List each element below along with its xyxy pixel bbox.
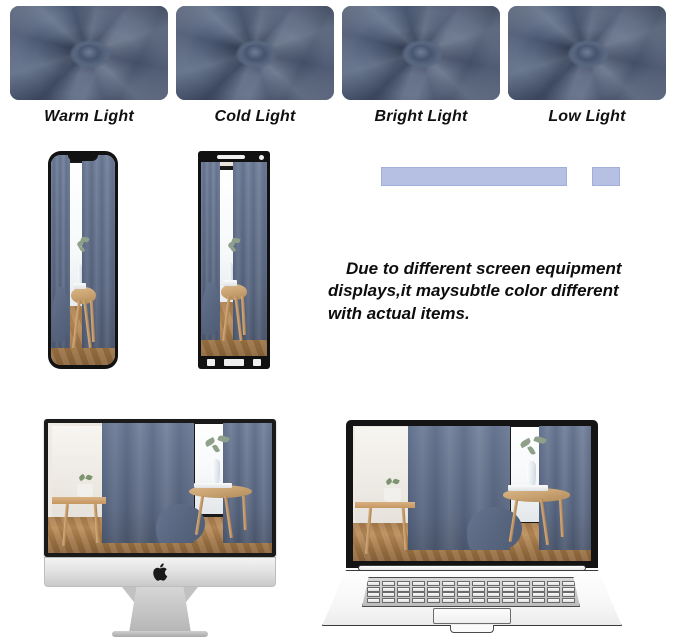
keyboard-key[interactable] [547, 592, 561, 597]
fabric-vignette [508, 6, 666, 100]
keyboard-key[interactable] [427, 581, 441, 586]
keyboard-key[interactable] [442, 581, 456, 586]
swatch-label: Warm Light [10, 108, 168, 126]
phone-speaker-icon [217, 155, 245, 159]
keyboard-key[interactable] [457, 592, 471, 597]
nav-recents-icon[interactable] [253, 359, 261, 366]
scene-plant-pot [77, 484, 93, 497]
fabric-vignette [10, 6, 168, 100]
keyboard-key[interactable] [472, 592, 486, 597]
fabric-swatch-row: Warm Light Cold Light Bright Light [0, 0, 679, 135]
fabric-vignette [342, 6, 500, 100]
keyboard-key[interactable] [397, 592, 411, 597]
fabric-swatch-icon [176, 6, 334, 100]
keyboard-key[interactable] [367, 581, 381, 586]
swatch-label: Cold Light [176, 108, 334, 126]
swatch-cell-warm-light: Warm Light [10, 6, 168, 126]
desktop-imac-mockup [44, 419, 276, 639]
keyboard-key[interactable] [532, 587, 546, 592]
keyboard-key[interactable] [457, 581, 471, 586]
keyboard-key[interactable] [397, 587, 411, 592]
scene-book [73, 283, 86, 289]
keyboard-key[interactable] [562, 598, 576, 603]
swatch-label: Bright Light [342, 108, 500, 126]
keyboard-key[interactable] [532, 592, 546, 597]
keyboard-key[interactable] [517, 598, 531, 603]
color-chip-small [592, 167, 620, 186]
keyboard-key[interactable] [427, 592, 441, 597]
nav-back-icon[interactable] [207, 359, 215, 366]
imac-bezel [44, 419, 276, 557]
keyboard-key[interactable] [487, 587, 501, 592]
keyboard-key[interactable] [412, 581, 426, 586]
laptop-front-lip [450, 625, 494, 633]
scene-book [508, 485, 548, 490]
swatch-cell-bright-light: Bright Light [342, 6, 500, 126]
keyboard-row[interactable] [366, 581, 576, 586]
keyboard-key[interactable] [487, 598, 501, 603]
keyboard-key[interactable] [547, 587, 561, 592]
phone-notch-icon [68, 155, 98, 161]
laptop-keyboard[interactable] [362, 577, 580, 607]
keyboard-key[interactable] [547, 598, 561, 603]
scene-bench-top [355, 502, 415, 509]
scene-book [194, 483, 232, 488]
keyboard-key[interactable] [502, 592, 516, 597]
nav-home-icon[interactable] [224, 359, 244, 366]
keyboard-row[interactable] [366, 598, 576, 603]
phone-iphone-screen [51, 155, 115, 365]
keyboard-key[interactable] [547, 581, 561, 586]
keyboard-key[interactable] [487, 581, 501, 586]
imac-screen [48, 423, 272, 553]
phone-iphone-mockup [48, 151, 118, 369]
laptop-lid [346, 420, 598, 568]
keyboard-key[interactable] [427, 587, 441, 592]
room-scene-landscape [353, 426, 591, 561]
color-chip-wide [381, 167, 567, 186]
keyboard-key[interactable] [457, 587, 471, 592]
keyboard-key[interactable] [382, 598, 396, 603]
keyboard-key[interactable] [532, 598, 546, 603]
keyboard-key[interactable] [517, 592, 531, 597]
keyboard-key[interactable] [442, 587, 456, 592]
keyboard-key[interactable] [532, 581, 546, 586]
laptop-trackpad[interactable] [433, 608, 511, 624]
swatch-cell-cold-light: Cold Light [176, 6, 334, 126]
keyboard-key[interactable] [562, 581, 576, 586]
keyboard-key[interactable] [562, 592, 576, 597]
scene-book [223, 280, 237, 286]
phone-navigation-bar[interactable] [198, 356, 270, 369]
keyboard-row[interactable] [366, 592, 576, 597]
keyboard-key[interactable] [427, 598, 441, 603]
keyboard-row[interactable] [366, 587, 576, 592]
keyboard-key[interactable] [502, 598, 516, 603]
keyboard-key[interactable] [442, 598, 456, 603]
phone-android-mockup [198, 151, 270, 369]
keyboard-key[interactable] [457, 598, 471, 603]
fabric-swatch-icon [342, 6, 500, 100]
keyboard-key[interactable] [367, 598, 381, 603]
keyboard-key[interactable] [487, 592, 501, 597]
keyboard-key[interactable] [367, 592, 381, 597]
swatch-cell-low-light: Low Light [508, 6, 666, 126]
keyboard-key[interactable] [412, 592, 426, 597]
scene-curtain-sweep [52, 287, 69, 342]
keyboard-key[interactable] [517, 587, 531, 592]
keyboard-key[interactable] [397, 598, 411, 603]
keyboard-key[interactable] [502, 587, 516, 592]
keyboard-key[interactable] [442, 592, 456, 597]
keyboard-key[interactable] [472, 598, 486, 603]
keyboard-key[interactable] [562, 587, 576, 592]
keyboard-key[interactable] [412, 587, 426, 592]
imac-stand-foot [112, 631, 208, 637]
scene-bench-top [52, 497, 106, 504]
laptop-mockup [322, 420, 622, 639]
scene-curtain-sweep [202, 282, 220, 334]
phone-android-screen [201, 162, 267, 356]
phone-front-camera-icon [259, 155, 264, 160]
fabric-swatch-icon [10, 6, 168, 100]
keyboard-key[interactable] [367, 587, 381, 592]
keyboard-key[interactable] [517, 581, 531, 586]
imac-chin [44, 557, 276, 587]
scene-plant-pot [384, 488, 401, 502]
room-scene-portrait [51, 155, 115, 365]
keyboard-key[interactable] [472, 587, 486, 592]
keyboard-key[interactable] [382, 587, 396, 592]
imac-stand-neck-inner [129, 587, 191, 633]
fabric-swatch-icon [508, 6, 666, 100]
fabric-vignette [176, 6, 334, 100]
keyboard-key[interactable] [412, 598, 426, 603]
laptop-screen [353, 426, 591, 561]
swatch-label: Low Light [508, 108, 666, 126]
room-scene-landscape [48, 423, 272, 553]
disclaimer-text: Due to different screen equipment displa… [328, 258, 638, 325]
room-scene-portrait [201, 162, 267, 356]
keyboard-key[interactable] [397, 581, 411, 586]
keyboard-key[interactable] [382, 592, 396, 597]
keyboard-key[interactable] [472, 581, 486, 586]
keyboard-key[interactable] [502, 581, 516, 586]
keyboard-key[interactable] [382, 581, 396, 586]
apple-logo-icon [152, 563, 168, 582]
